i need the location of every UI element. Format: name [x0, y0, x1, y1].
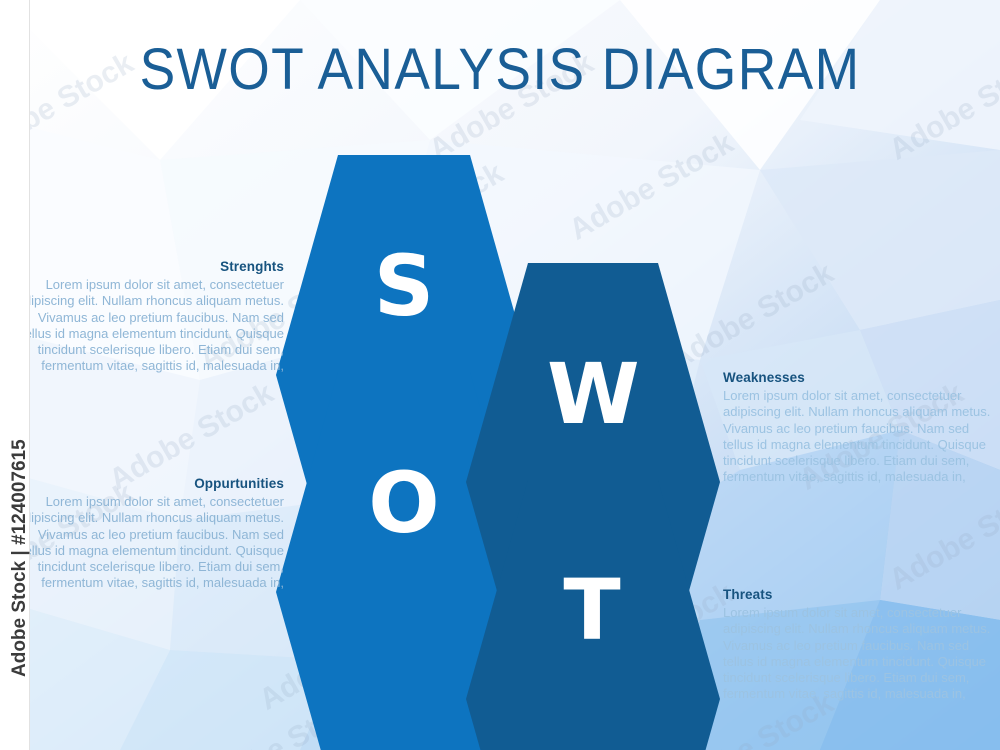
text-block-opportunities: Oppurtunities Lorem ipsum dolor sit amet…: [12, 476, 284, 592]
text-block-threats: Threats Lorem ipsum dolor sit amet, cons…: [723, 587, 995, 703]
block-body-strengths: Lorem ipsum dolor sit amet, consectetuer…: [12, 277, 284, 375]
block-title-strengths: Strenghts: [12, 259, 284, 274]
hexagon-letter-t: T: [552, 568, 632, 652]
hexagon-letter-s: S: [364, 244, 444, 328]
hexagon-letter-w: W: [547, 352, 637, 436]
block-body-weaknesses: Lorem ipsum dolor sit amet, consectetuer…: [723, 388, 995, 486]
block-title-opportunities: Oppurtunities: [12, 476, 284, 491]
block-body-threats: Lorem ipsum dolor sit amet, consectetuer…: [723, 605, 995, 703]
swot-diagram-canvas: SWOT ANALYSIS DIAGRAM S W O T Strenghts …: [0, 0, 1000, 750]
hexagon-letter-o: O: [364, 461, 444, 545]
stock-id-label: Adobe Stock | #124007615: [9, 31, 31, 691]
text-block-strengths: Strenghts Lorem ipsum dolor sit amet, co…: [12, 259, 284, 375]
block-title-weaknesses: Weaknesses: [723, 370, 995, 385]
stock-id-sidebar: Adobe Stock | #124007615: [0, 0, 30, 750]
block-title-threats: Threats: [723, 587, 995, 602]
block-body-opportunities: Lorem ipsum dolor sit amet, consectetuer…: [12, 494, 284, 592]
page-title: SWOT ANALYSIS DIAGRAM: [40, 36, 960, 103]
text-block-weaknesses: Weaknesses Lorem ipsum dolor sit amet, c…: [723, 370, 995, 486]
